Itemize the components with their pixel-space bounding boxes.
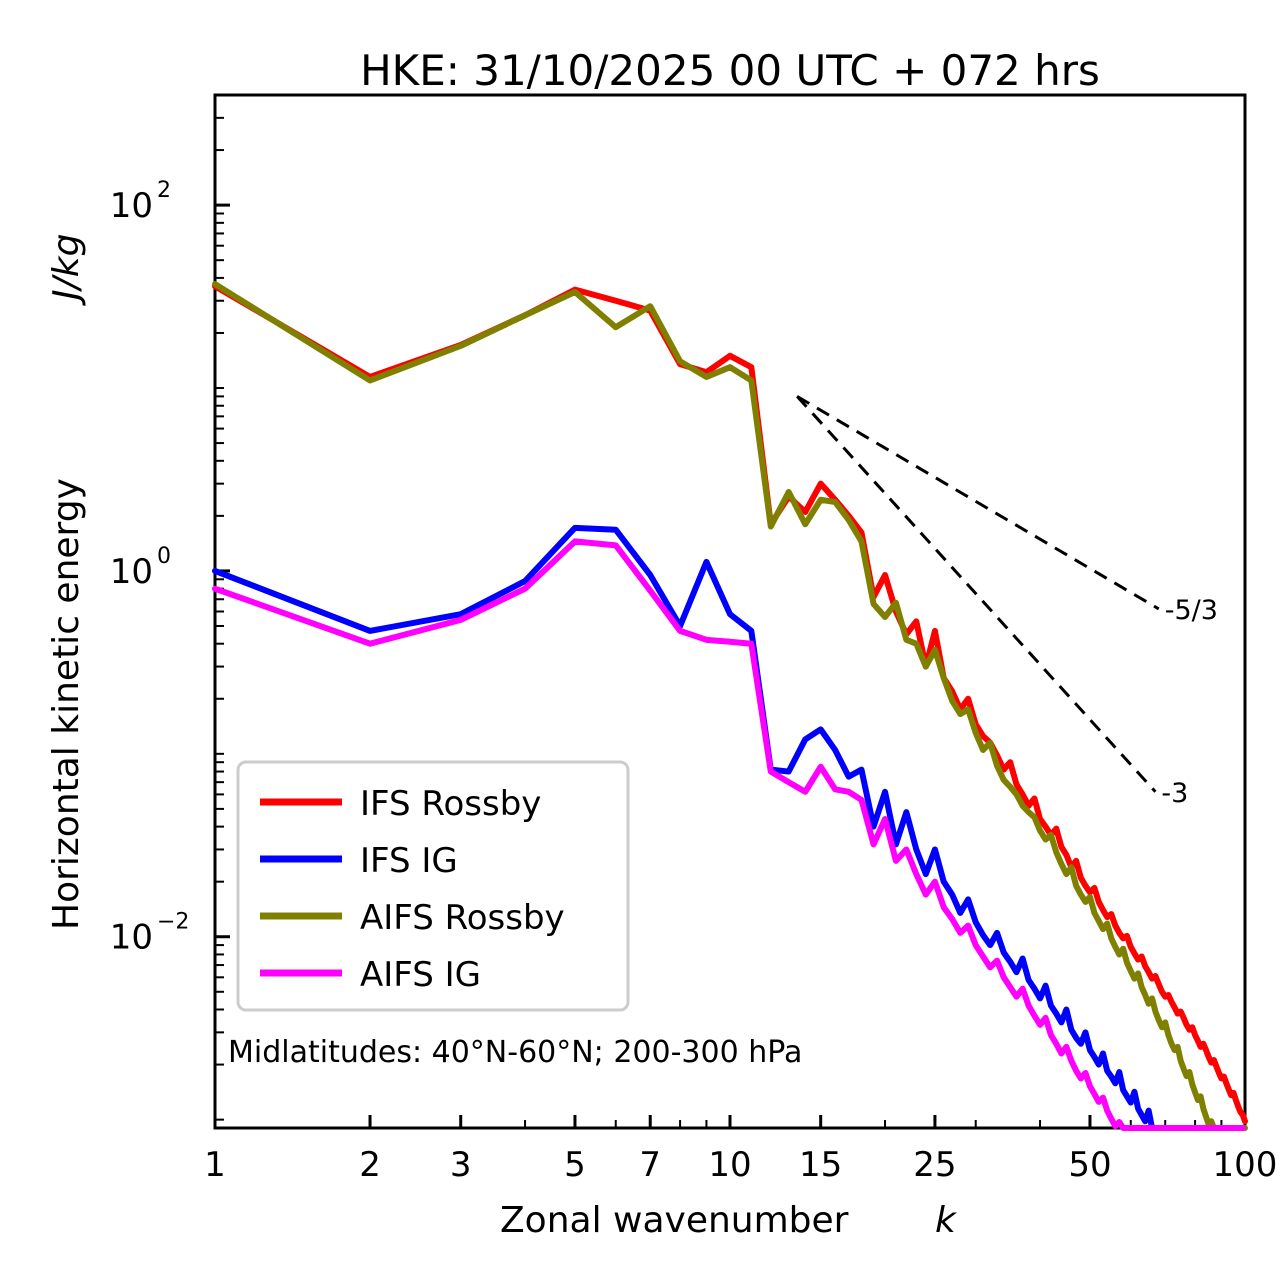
- legend-label[interactable]: IFS IG: [360, 841, 458, 881]
- y-tick-label-exponent: −2: [157, 910, 189, 935]
- y-tick-label-base: 10: [110, 918, 153, 958]
- x-tick-label: 1: [204, 1145, 226, 1185]
- legend[interactable]: IFS RossbyIFS IGAIFS RossbyAIFS IG: [238, 762, 628, 1010]
- x-tick-label: 5: [564, 1145, 586, 1185]
- y-tick-label-exponent: 2: [157, 178, 171, 203]
- legend-label[interactable]: IFS Rossby: [360, 784, 541, 824]
- y-tick-label-base: 10: [110, 552, 153, 592]
- legend-label[interactable]: AIFS IG: [360, 955, 481, 995]
- x-axis-label-symbol: k: [935, 1200, 958, 1241]
- x-tick-label: 3: [450, 1145, 472, 1185]
- x-tick-label: 100: [1213, 1145, 1278, 1185]
- background: [0, 0, 1280, 1288]
- y-tick-label-base: 10: [110, 186, 153, 226]
- legend-label[interactable]: AIFS Rossby: [360, 898, 565, 938]
- y-tick-label-exponent: 0: [157, 544, 171, 569]
- x-tick-label: 25: [913, 1145, 956, 1185]
- y-axis-label-main: Horizontal kinetic energy: [46, 478, 87, 930]
- chart-canvas: HKE: 31/10/2025 00 UTC + 072 hrs 1235710…: [0, 0, 1280, 1288]
- reference-slope-label: -5/3: [1165, 595, 1218, 626]
- y-axis-label-units: J/kg: [46, 234, 87, 306]
- x-tick-label: 2: [359, 1145, 381, 1185]
- x-axis-label-main: Zonal wavenumber: [500, 1200, 849, 1241]
- x-tick-label: 7: [639, 1145, 661, 1185]
- hke-spectrum-chart: HKE: 31/10/2025 00 UTC + 072 hrs 1235710…: [0, 0, 1280, 1288]
- x-tick-label: 15: [799, 1145, 842, 1185]
- page-title: HKE: 31/10/2025 00 UTC + 072 hrs: [360, 46, 1100, 95]
- x-axis-minor-ticks: [215, 1120, 1245, 1128]
- x-tick-label: 10: [708, 1145, 751, 1185]
- x-tick-label: 50: [1068, 1145, 1111, 1185]
- region-annotation: Midlatitudes: 40°N-60°N; 200-300 hPa: [228, 1035, 802, 1070]
- reference-slope-label: -3: [1161, 778, 1188, 809]
